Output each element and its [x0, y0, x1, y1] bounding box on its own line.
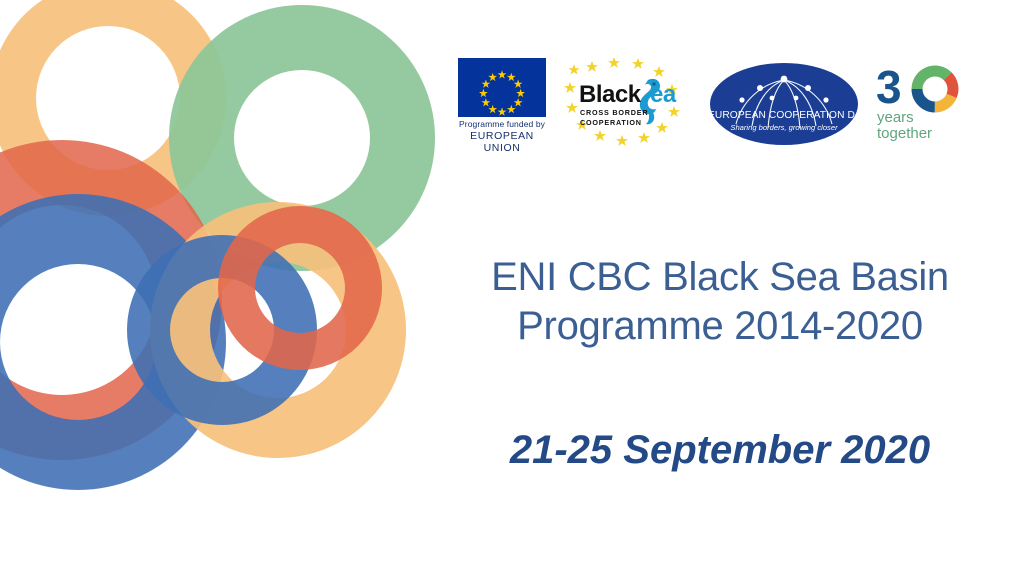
eu-flag-icon: [458, 58, 546, 117]
european-cooperation-day-logo: EUROPEAN COOPERATION DAY Sharing borders…: [708, 58, 860, 150]
eu-caption: Programme funded by EUROPEAN UNION: [452, 120, 552, 154]
black-sea-word-black: Black: [579, 81, 641, 109]
ring-red-mid-left: [0, 0, 440, 500]
segment-bottom-yellow: [935, 96, 952, 107]
eu-caption-line2: EUROPEAN UNION: [452, 130, 552, 154]
thirty-ring-zero-icon: [910, 64, 960, 114]
ring-blue-bottom-left: [0, 0, 440, 500]
logo-strip: Programme funded by EUROPEAN UNION: [452, 58, 972, 152]
thirty-words-line1: years: [877, 110, 932, 126]
black-sea-subtitle-line2: COOPERATION: [580, 118, 642, 127]
ecd-title: EUROPEAN COOPERATION DAY: [708, 110, 860, 121]
thirty-words: years together: [877, 110, 932, 142]
segment-right-red: [948, 76, 953, 96]
thirty-number-three: 3: [876, 64, 901, 110]
thirty-words-line2: together: [877, 126, 932, 142]
black-sea-subtitle: CROSS BORDER COOPERATION: [580, 108, 648, 127]
page-title-line1: ENI CBC Black Sea Basin: [448, 253, 992, 302]
ring-blue-small-mid: [0, 0, 440, 500]
event-date: 21-25 September 2020: [448, 428, 992, 473]
thirty-years-together-logo: 3 years together: [870, 58, 966, 150]
ring-red-right: [0, 0, 440, 500]
presentation-slide: Programme funded by EUROPEAN UNION: [0, 0, 1024, 572]
page-title: ENI CBC Black Sea Basin Programme 2014-2…: [448, 253, 992, 351]
ring-orange-bottom-mid: [0, 0, 440, 500]
black-sea-cross-border-cooperation-logo: Black ea CROSS BORDER COOPERATION: [562, 58, 698, 150]
overlapping-rings-decoration: [0, 0, 440, 500]
page-title-line2: Programme 2014-2020: [448, 302, 992, 351]
segment-top-green: [917, 71, 948, 89]
black-sea-subtitle-line1: CROSS BORDER: [580, 108, 648, 117]
ecd-ellipse: [710, 63, 858, 145]
ecd-tagline: Sharing borders, growing closer: [708, 123, 860, 132]
ring-green-top-right: [0, 0, 440, 500]
segment-left-blue: [917, 89, 935, 107]
ring-orange-top-left: [0, 0, 440, 500]
eu-caption-line1: Programme funded by: [452, 120, 552, 130]
black-sea-word-sea: ea: [650, 81, 676, 109]
european-union-flag-logo: Programme funded by EUROPEAN UNION: [452, 58, 552, 154]
